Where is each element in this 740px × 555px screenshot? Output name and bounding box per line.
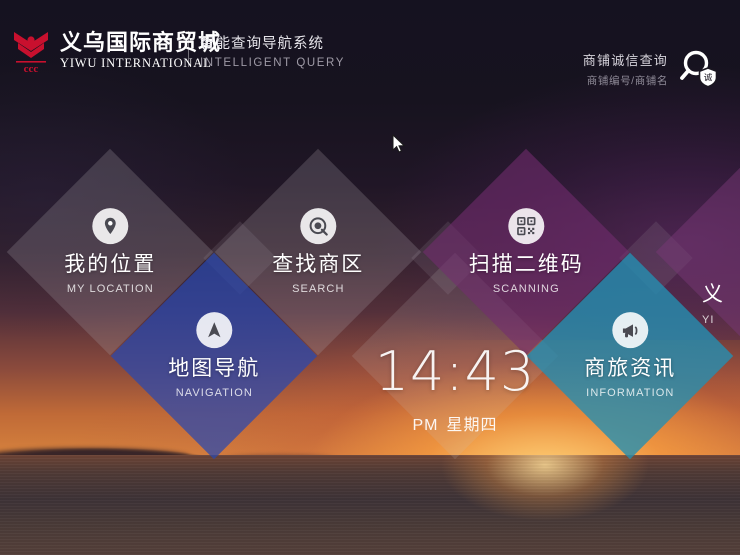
header-divider xyxy=(188,31,189,67)
brand-block: ccc 义乌国际商贸城 YIWU INTERNATIONAL xyxy=(10,28,221,74)
location-pin-icon xyxy=(92,208,128,244)
tile-label-en: SCANNING xyxy=(493,284,560,296)
search-shield-icon[interactable]: 诚 xyxy=(678,48,720,90)
megaphone-icon xyxy=(612,312,648,348)
svg-text:ccc: ccc xyxy=(24,63,39,74)
qr-code-icon xyxy=(508,208,544,244)
navigation-arrow-icon xyxy=(196,312,232,348)
system-title-block: 智能查询导航系统 INTELLIGENT QUERY xyxy=(200,32,345,69)
tile-label-cn: 查找商区 xyxy=(272,253,364,277)
tile-label-en: SEARCH xyxy=(292,284,344,296)
tile-label-cn: 地图导航 xyxy=(168,357,260,381)
credit-query-subtitle: 商铺编号/商铺名 xyxy=(583,73,668,88)
credit-query-title: 商铺诚信查询 xyxy=(583,50,668,69)
tile-edge-label-cn: 义 xyxy=(702,278,740,308)
system-title-en: INTELLIGENT QUERY xyxy=(200,57,345,69)
brand-name-en: YIWU INTERNATIONAL xyxy=(60,56,221,71)
yiwu-shield-logo-icon: ccc xyxy=(10,28,52,74)
mouse-cursor xyxy=(392,134,406,154)
header-bar: ccc 义乌国际商贸城 YIWU INTERNATIONAL 智能查询导航系统 … xyxy=(0,0,740,100)
tile-label-cn: 商旅资讯 xyxy=(584,357,676,381)
search-circle-icon xyxy=(300,208,336,244)
credit-query-button[interactable]: 商铺诚信查询 商铺编号/商铺名 诚 xyxy=(583,48,720,90)
tile-label-cn: 扫描二维码 xyxy=(469,253,584,277)
brand-name-cn: 义乌国际商贸城 xyxy=(60,31,221,54)
tile-label-en: NAVIGATION xyxy=(175,388,252,400)
tile-label-en: INFORMATION xyxy=(586,388,674,400)
tile-label-en: MY LOCATION xyxy=(67,284,154,296)
tile-label-cn: 我的位置 xyxy=(64,253,156,277)
svg-text:诚: 诚 xyxy=(704,73,713,84)
system-title-cn: 智能查询导航系统 xyxy=(200,32,345,53)
kiosk-screen: 义 YI 我的位置 MY LOCATION 查找商区 SEARCH xyxy=(0,0,740,555)
